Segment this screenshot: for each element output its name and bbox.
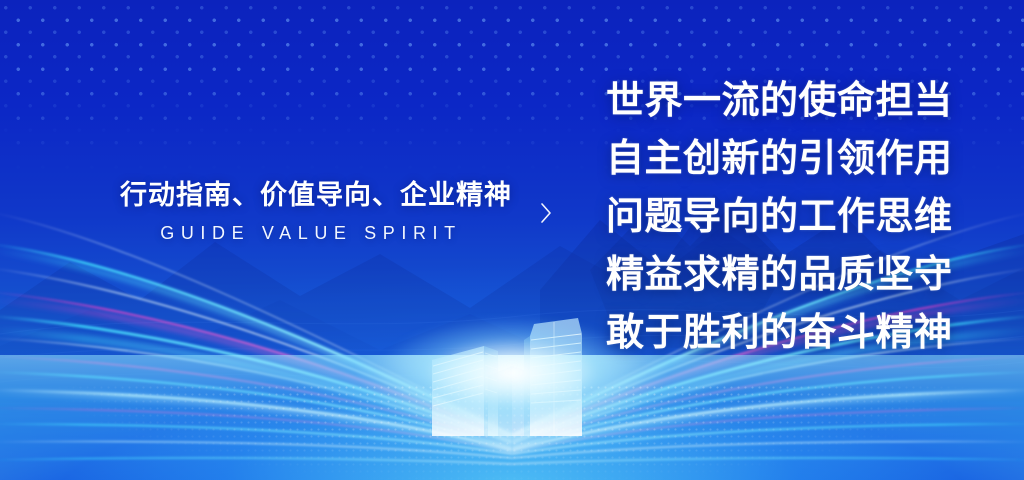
right-line-4: 精益求精的品质坚守 [606, 246, 966, 304]
chevron-right-icon [542, 204, 550, 222]
ground-dot-grid [0, 384, 1024, 480]
right-text-block: 世界一流的使命担当 自主创新的引领作用 问题导向的工作思维 精益求精的品质坚守 … [606, 72, 966, 362]
corporate-culture-banner: 行动指南、价值导向、企业精神 GUIDE VALUE SPIRIT 世界一流的使… [0, 0, 1024, 480]
right-line-1: 世界一流的使命担当 [606, 72, 966, 130]
left-text-block: 行动指南、价值导向、企业精神 GUIDE VALUE SPIRIT [120, 178, 496, 244]
right-line-2: 自主创新的引领作用 [606, 130, 966, 188]
vertical-divider [528, 82, 558, 344]
city-skyscrapers-graphic [412, 304, 612, 444]
glowing-ground-plane [0, 355, 1024, 480]
right-line-5: 敢于胜利的奋斗精神 [606, 304, 966, 362]
left-title: 行动指南、价值导向、企业精神 [120, 178, 496, 212]
left-subtitle: GUIDE VALUE SPIRIT [120, 222, 496, 244]
right-line-3: 问题导向的工作思维 [606, 188, 966, 246]
